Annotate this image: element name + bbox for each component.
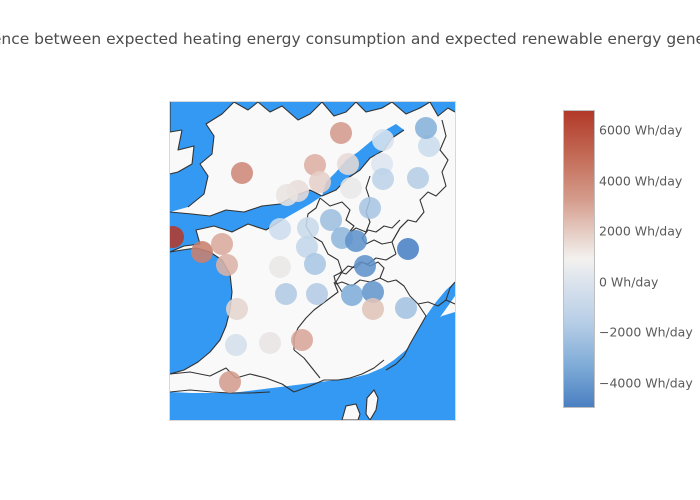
map-plot-area[interactable]	[169, 101, 456, 421]
colorbar-tick-label: 0 Wh/day	[599, 274, 658, 289]
colorbar-tick-label: 2000 Wh/day	[599, 224, 682, 239]
colorbar-tick-label: 4000 Wh/day	[599, 173, 682, 188]
scatter-point[interactable]	[397, 238, 419, 260]
scatter-point[interactable]	[407, 167, 429, 189]
scatter-point[interactable]	[359, 197, 381, 219]
scatter-point[interactable]	[309, 171, 331, 193]
scatter-point[interactable]	[354, 255, 376, 277]
page-title: Difference between expected heating ener…	[0, 30, 700, 48]
scatter-point[interactable]	[216, 254, 238, 276]
scatter-point[interactable]	[304, 253, 326, 275]
scatter-point[interactable]	[225, 334, 247, 356]
scatter-point[interactable]	[231, 162, 253, 184]
scatter-point[interactable]	[372, 129, 394, 151]
colorbar-tick-label: 6000 Wh/day	[599, 123, 682, 138]
scatter-point[interactable]	[259, 332, 281, 354]
scatter-point[interactable]	[269, 218, 291, 240]
scatter-point[interactable]	[211, 233, 233, 255]
scatter-point[interactable]	[395, 297, 417, 319]
scatter-point[interactable]	[276, 184, 298, 206]
colorbar-tick-label: −2000 Wh/day	[599, 325, 693, 340]
scatter-point[interactable]	[219, 371, 241, 393]
map-svg	[170, 102, 455, 420]
scatter-point[interactable]	[297, 217, 319, 239]
scatter-point[interactable]	[291, 329, 313, 351]
scatter-point[interactable]	[362, 298, 384, 320]
scatter-point[interactable]	[306, 283, 328, 305]
scatter-point[interactable]	[191, 241, 213, 263]
scatter-point[interactable]	[340, 177, 362, 199]
scatter-point[interactable]	[275, 283, 297, 305]
scatter-point[interactable]	[337, 153, 359, 175]
scatter-point[interactable]	[226, 298, 248, 320]
colorbar-tick-label: −4000 Wh/day	[599, 375, 693, 390]
scatter-point[interactable]	[341, 284, 363, 306]
scatter-point[interactable]	[345, 230, 367, 252]
colorbar-gradient	[563, 110, 595, 408]
scatter-point[interactable]	[372, 168, 394, 190]
figure-canvas: Difference between expected heating ener…	[0, 0, 700, 500]
scatter-point[interactable]	[415, 117, 437, 139]
scatter-point[interactable]	[330, 122, 352, 144]
scatter-point[interactable]	[269, 256, 291, 278]
colorbar[interactable]: 6000 Wh/day4000 Wh/day2000 Wh/day0 Wh/da…	[563, 110, 595, 408]
